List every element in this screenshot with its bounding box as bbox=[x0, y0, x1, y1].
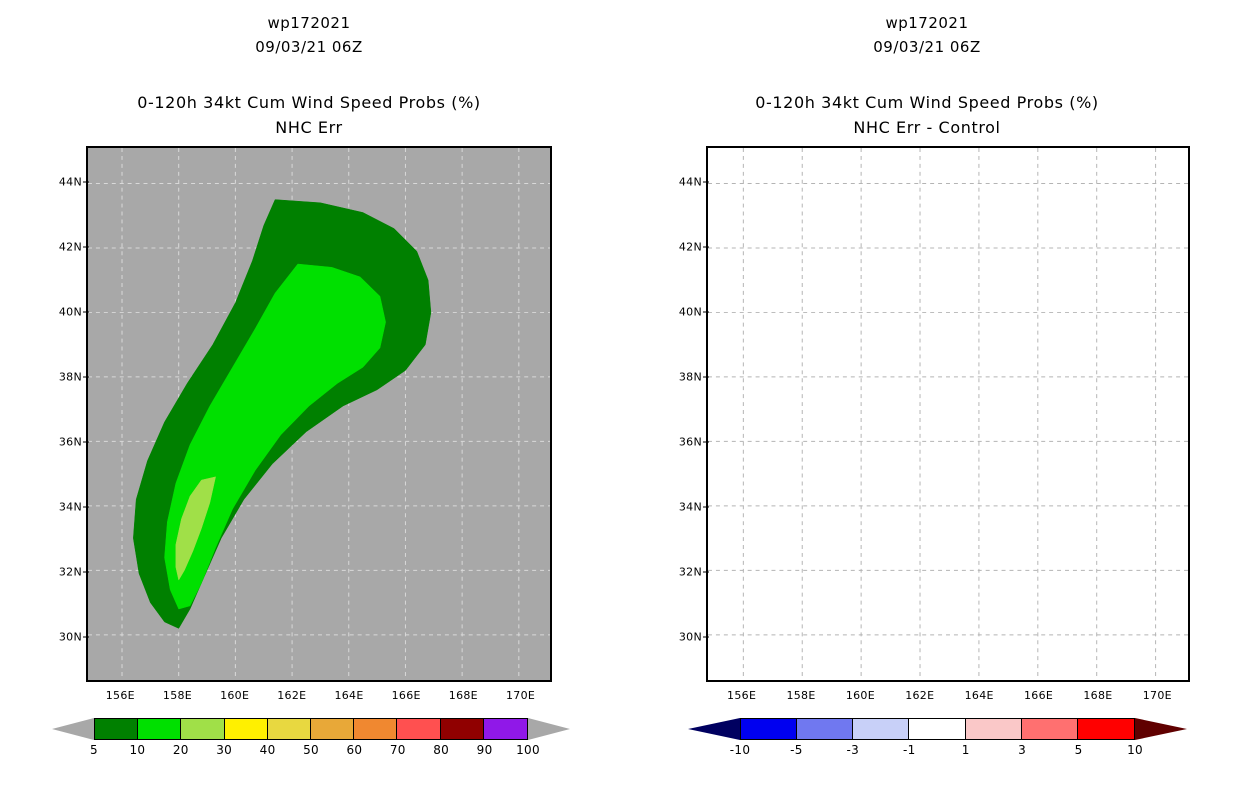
colorbar-swatch-9 bbox=[484, 719, 527, 739]
y-axis-tickmark bbox=[83, 181, 89, 182]
colorbar-swatch-3 bbox=[225, 719, 268, 739]
y-axis-tickmark bbox=[83, 571, 89, 572]
y-axis-tick-38N: 38N bbox=[679, 370, 702, 383]
y-axis-tick-36N: 36N bbox=[679, 435, 702, 448]
x-axis-labels-right: 156E158E160E162E164E166E168E170E bbox=[706, 689, 1190, 707]
x-axis-tick-160E: 160E bbox=[220, 689, 249, 702]
storm-id-right: wp172021 bbox=[618, 14, 1236, 32]
x-axis-tick-162E: 162E bbox=[277, 689, 306, 702]
y-axis-tickmark bbox=[703, 636, 709, 637]
colorbar-label--3: -3 bbox=[847, 743, 860, 757]
x-axis-tick-168E: 168E bbox=[449, 689, 478, 702]
colorbar-label-3: 3 bbox=[1018, 743, 1026, 757]
y-axis-tick-30N: 30N bbox=[59, 630, 82, 643]
colorbar-label--1: -1 bbox=[903, 743, 916, 757]
colorbar-left-arrow-high bbox=[528, 718, 570, 740]
contour-band-10-20 bbox=[165, 264, 386, 609]
chart-title-left: 0-120h 34kt Cum Wind Speed Probs (%) bbox=[0, 93, 618, 112]
y-axis-labels-left: 44N42N40N38N36N34N32N30N bbox=[42, 146, 82, 682]
colorbar-swatch-3 bbox=[909, 719, 965, 739]
y-axis-tick-38N: 38N bbox=[59, 370, 82, 383]
y-axis-tick-30N: 30N bbox=[679, 630, 702, 643]
plot-frame-right bbox=[706, 146, 1190, 682]
y-axis-tick-44N: 44N bbox=[59, 175, 82, 188]
y-axis-tick-34N: 34N bbox=[679, 500, 702, 513]
colorbar-label-10: 10 bbox=[129, 743, 145, 757]
colorbar-label-100: 100 bbox=[516, 743, 540, 757]
y-axis-tickmark bbox=[703, 376, 709, 377]
y-axis-tick-42N: 42N bbox=[679, 240, 702, 253]
colorbar-swatch-0 bbox=[741, 719, 797, 739]
colorbar-label-30: 30 bbox=[216, 743, 232, 757]
colorbar-label-10: 10 bbox=[1127, 743, 1143, 757]
y-axis-tickmark bbox=[83, 376, 89, 377]
x-axis-tick-158E: 158E bbox=[163, 689, 192, 702]
y-axis-tick-32N: 32N bbox=[679, 565, 702, 578]
colorbar-swatch-5 bbox=[1022, 719, 1078, 739]
y-axis-tick-40N: 40N bbox=[679, 305, 702, 318]
colorbar-label-50: 50 bbox=[303, 743, 319, 757]
y-axis-tick-34N: 34N bbox=[59, 500, 82, 513]
colorbar-label-70: 70 bbox=[390, 743, 406, 757]
y-axis-tickmark bbox=[703, 506, 709, 507]
y-axis-tickmark bbox=[703, 181, 709, 182]
colorbar-probability: 5102030405060708090100 bbox=[52, 718, 570, 740]
y-axis-tickmark bbox=[703, 246, 709, 247]
x-axis-tick-170E: 170E bbox=[506, 689, 535, 702]
colorbar-label-80: 80 bbox=[433, 743, 449, 757]
y-axis-tick-40N: 40N bbox=[59, 305, 82, 318]
y-axis-tickmark bbox=[83, 441, 89, 442]
colorbar-right-arrow-low bbox=[688, 718, 740, 740]
x-axis-tick-156E: 156E bbox=[727, 689, 756, 702]
colorbar-label-5: 5 bbox=[1075, 743, 1083, 757]
y-axis-tickmark bbox=[703, 571, 709, 572]
colorbar-label-40: 40 bbox=[260, 743, 276, 757]
y-axis-tickmark bbox=[83, 246, 89, 247]
x-axis-tick-166E: 166E bbox=[1024, 689, 1053, 702]
y-axis-tickmark bbox=[83, 311, 89, 312]
x-axis-tick-166E: 166E bbox=[392, 689, 421, 702]
y-axis-labels-right: 44N42N40N38N36N34N32N30N bbox=[662, 146, 702, 682]
forecast-datetime-right: 09/03/21 06Z bbox=[618, 38, 1236, 56]
colorbar-swatch-1 bbox=[138, 719, 181, 739]
colorbar-left-labels: 5102030405060708090100 bbox=[94, 743, 528, 759]
y-axis-tick-36N: 36N bbox=[59, 435, 82, 448]
colorbar-label-60: 60 bbox=[346, 743, 362, 757]
colorbar-label-90: 90 bbox=[477, 743, 493, 757]
x-axis-tick-170E: 170E bbox=[1143, 689, 1172, 702]
x-axis-tick-158E: 158E bbox=[786, 689, 815, 702]
colorbar-right-arrow-high bbox=[1135, 718, 1187, 740]
colorbar-swatch-0 bbox=[95, 719, 138, 739]
y-axis-tickmark bbox=[703, 441, 709, 442]
x-axis-labels-left: 156E158E160E162E164E166E168E170E bbox=[86, 689, 552, 707]
colorbar-swatch-6 bbox=[354, 719, 397, 739]
plot-area-left: 44N42N40N38N36N34N32N30N 156E158E160E162… bbox=[86, 146, 552, 682]
chart-subtitle-left: NHC Err bbox=[0, 118, 618, 137]
colorbar-swatch-4 bbox=[966, 719, 1022, 739]
y-axis-tick-44N: 44N bbox=[679, 175, 702, 188]
y-axis-tickmark bbox=[83, 636, 89, 637]
colorbar-label--10: -10 bbox=[730, 743, 751, 757]
colorbar-left-cells bbox=[94, 718, 528, 740]
y-axis-tickmark bbox=[83, 506, 89, 507]
x-axis-tick-162E: 162E bbox=[905, 689, 934, 702]
colorbar-swatch-5 bbox=[311, 719, 354, 739]
chart-subtitle-right: NHC Err - Control bbox=[618, 118, 1236, 137]
x-axis-tick-164E: 164E bbox=[965, 689, 994, 702]
forecast-datetime-left: 09/03/21 06Z bbox=[0, 38, 618, 56]
probability-contours bbox=[88, 148, 550, 680]
colorbar-right-cells bbox=[740, 718, 1135, 740]
colorbar-label-5: 5 bbox=[90, 743, 98, 757]
x-axis-tick-164E: 164E bbox=[334, 689, 363, 702]
colorbar-right-labels: -10-5-3-113510 bbox=[740, 743, 1135, 759]
x-axis-tick-168E: 168E bbox=[1083, 689, 1112, 702]
colorbar-label-20: 20 bbox=[173, 743, 189, 757]
colorbar-swatch-6 bbox=[1078, 719, 1134, 739]
storm-id-left: wp172021 bbox=[0, 14, 618, 32]
plot-frame-left bbox=[86, 146, 552, 682]
colorbar-swatch-8 bbox=[441, 719, 484, 739]
chart-title-right: 0-120h 34kt Cum Wind Speed Probs (%) bbox=[618, 93, 1236, 112]
y-axis-tickmark bbox=[703, 311, 709, 312]
y-axis-tick-32N: 32N bbox=[59, 565, 82, 578]
colorbar-swatch-4 bbox=[268, 719, 311, 739]
y-axis-tick-42N: 42N bbox=[59, 240, 82, 253]
colorbar-left-arrow-low bbox=[52, 718, 94, 740]
panel-nhc-err-control: wp172021 09/03/21 06Z 0-120h 34kt Cum Wi… bbox=[618, 0, 1236, 800]
x-axis-tick-156E: 156E bbox=[106, 689, 135, 702]
plot-area-right: 44N42N40N38N36N34N32N30N 156E158E160E162… bbox=[706, 146, 1190, 682]
colorbar-swatch-1 bbox=[797, 719, 853, 739]
panel-nhc-err: wp172021 09/03/21 06Z 0-120h 34kt Cum Wi… bbox=[0, 0, 618, 800]
grid-lines-right bbox=[708, 148, 1188, 680]
colorbar-label--5: -5 bbox=[790, 743, 803, 757]
x-axis-tick-160E: 160E bbox=[846, 689, 875, 702]
colorbar-difference: -10-5-3-113510 bbox=[688, 718, 1187, 740]
colorbar-label-1: 1 bbox=[962, 743, 970, 757]
colorbar-swatch-7 bbox=[397, 719, 440, 739]
colorbar-swatch-2 bbox=[181, 719, 224, 739]
colorbar-swatch-2 bbox=[853, 719, 909, 739]
